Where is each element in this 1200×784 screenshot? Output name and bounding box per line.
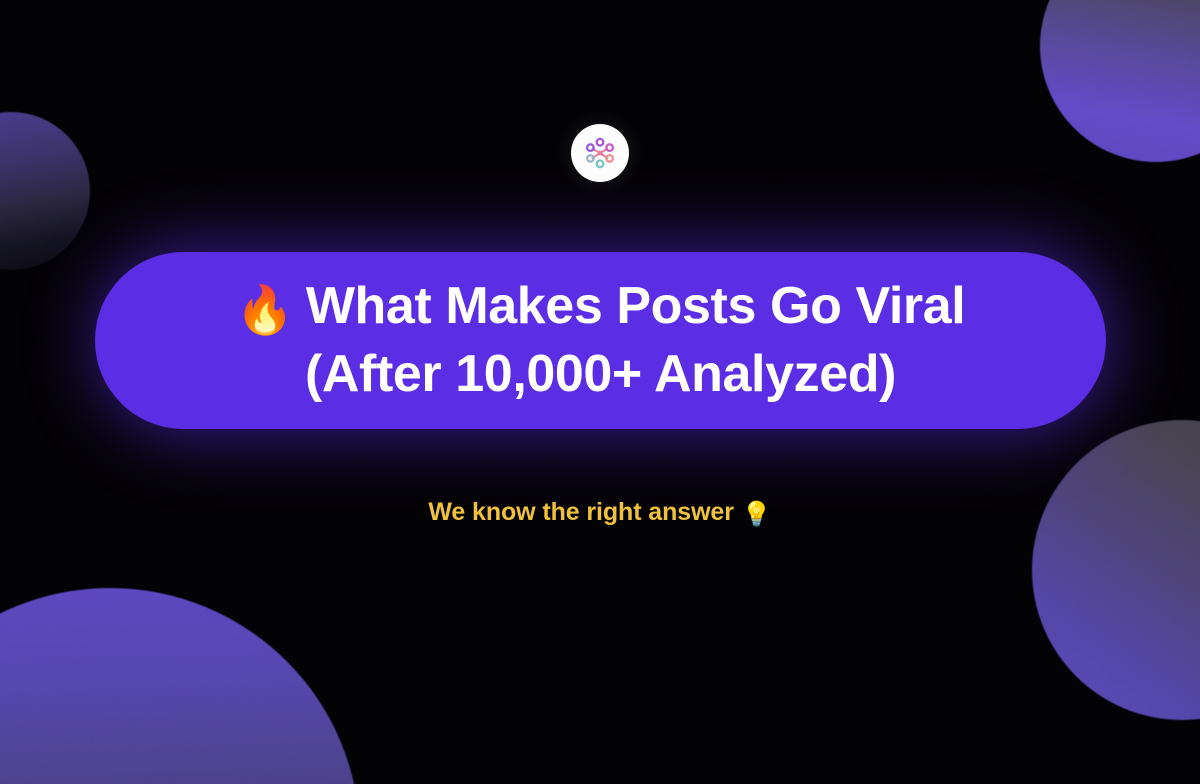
headline-line-1: 🔥What Makes Posts Go Viral xyxy=(236,274,966,342)
decorative-blob-top-right xyxy=(1040,0,1200,162)
decorative-blob-left xyxy=(0,112,90,270)
decorative-blob-bottom-left xyxy=(0,588,360,784)
light-bulb-emoji: 💡 xyxy=(742,501,772,528)
subtitle: We know the right answer💡 xyxy=(0,498,1200,529)
headline-pill: 🔥What Makes Posts Go Viral (After 10,000… xyxy=(95,252,1106,429)
decorative-blob-bottom-right xyxy=(1032,420,1200,720)
banner-stage: 🔥What Makes Posts Go Viral (After 10,000… xyxy=(0,0,1200,784)
molecule-flower-icon xyxy=(583,136,617,170)
headline-line-2: (After 10,000+ Analyzed) xyxy=(305,342,896,407)
logo-badge xyxy=(571,124,629,182)
subtitle-text: We know the right answer xyxy=(428,498,734,526)
headline-line-1-text: What Makes Posts Go Viral xyxy=(306,277,965,335)
fire-emoji: 🔥 xyxy=(236,283,294,336)
